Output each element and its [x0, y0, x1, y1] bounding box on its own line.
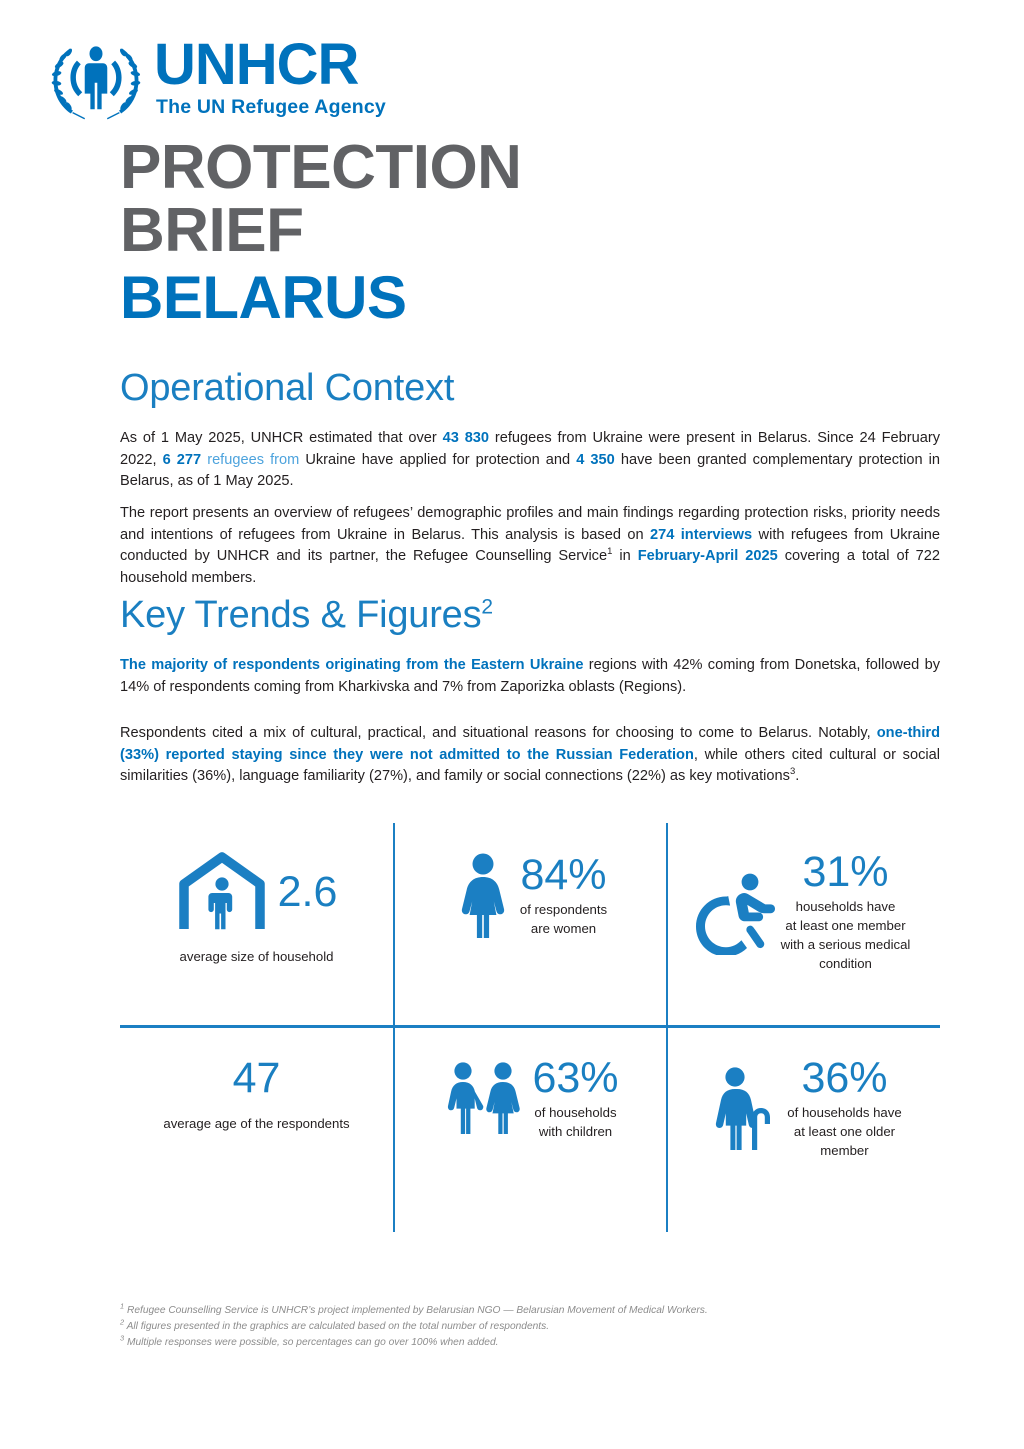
stat-value-average-age: 47	[233, 1057, 281, 1100]
stat-card-women-share: 84% of respondents are women	[393, 851, 666, 941]
page-title: PROTECTION BRIEF	[120, 136, 940, 262]
text-fragment: .	[795, 768, 799, 784]
text-fragment: Ukraine have applied for protection and	[299, 452, 576, 468]
section-heading-key-trends: Key Trends & Figures2	[120, 594, 493, 637]
logo-tagline: The UN Refugee Agency	[156, 96, 386, 119]
stat-label-households-older: of households have at least one older me…	[787, 1103, 901, 1160]
stat-card-households-children: 63% of households with children	[393, 1057, 666, 1141]
text-fragment: in	[612, 548, 637, 564]
section-heading-operational-context: Operational Context	[120, 367, 454, 410]
figure-interviews: 274 interviews	[650, 527, 752, 543]
stat-card-medical-condition: 31% households have at least one member …	[666, 851, 939, 973]
paragraph-origin-regions: The majority of respondents originating …	[120, 655, 940, 698]
stat-label-household-size: average size of household	[120, 947, 393, 966]
stat-label-line: at least one older	[794, 1124, 895, 1139]
footnote-text: All figures presented in the graphics ar…	[127, 1321, 549, 1332]
figure-applied-protection-suffix: refugees from	[201, 452, 299, 468]
stat-label-households-children: of households with children	[534, 1103, 616, 1141]
stat-card-households-older: 36% of households have at least one olde…	[666, 1057, 939, 1160]
stat-label-line: condition	[819, 956, 872, 971]
highlight-majority-origin: The majority of respondents originating …	[120, 657, 583, 673]
paragraph-reasons-for-belarus: Respondents cited a mix of cultural, pra…	[120, 723, 940, 788]
stat-label-line: member	[820, 1143, 868, 1158]
stat-label-line: at least one member	[785, 918, 905, 933]
footnote-number: 2	[120, 1317, 124, 1326]
house-with-person-icon	[176, 851, 272, 933]
document-title-block: PROTECTION BRIEF BELARUS	[120, 136, 940, 331]
unhcr-emblem-icon	[44, 34, 148, 122]
grid-horizontal-divider	[120, 1025, 940, 1028]
stat-card-household-size: 2.6 average size of household	[120, 851, 393, 966]
section-heading-key-trends-label: Key Trends & Figures	[120, 594, 481, 636]
paragraph-report-overview: The report presents an overview of refug…	[120, 503, 940, 589]
stat-label-medical-condition: households have at least one member with…	[781, 897, 911, 973]
title-line-1: PROTECTION	[120, 133, 521, 202]
paragraph-operational-context: As of 1 May 2025, UNHCR estimated that o…	[120, 428, 940, 493]
footnotes-block: 1 Refugee Counselling Service is UNHCR’s…	[120, 1303, 910, 1350]
protection-brief-page: UNHCR The UN Refugee Agency PROTECTION B…	[0, 0, 1024, 1449]
title-line-2: BRIEF	[120, 196, 304, 265]
logo-wordmark: UNHCR The UN Refugee Agency	[154, 37, 386, 118]
text-fragment: Respondents cited a mix of cultural, pra…	[120, 725, 877, 741]
logo-name: UNHCR	[154, 37, 386, 92]
figure-refugees-present: 43 830	[443, 430, 489, 446]
text-fragment: As of 1 May 2025, UNHCR estimated that o…	[120, 430, 443, 446]
stat-value-households-children: 63%	[532, 1057, 618, 1100]
stat-value-households-older: 36%	[801, 1057, 887, 1100]
key-figures-grid: 2.6 average size of household 84% of res…	[120, 823, 940, 1235]
stat-label-line: households have	[796, 899, 896, 914]
footnote-text: Multiple responses were possible, so per…	[127, 1337, 499, 1348]
stat-label-women-share: of respondents are women	[520, 900, 607, 938]
footnote-item: 2 All figures presented in the graphics …	[120, 1319, 910, 1335]
stat-label-line: are women	[531, 921, 596, 936]
footnote-item: 3 Multiple responses were possible, so p…	[120, 1335, 910, 1351]
country-title: BELARUS	[120, 266, 940, 331]
older-person-with-cane-icon	[703, 1064, 781, 1154]
stat-label-line: of households	[534, 1105, 616, 1120]
footnote-marker-2: 2	[481, 595, 492, 618]
stat-value-women-share: 84%	[520, 854, 606, 897]
unhcr-logo: UNHCR The UN Refugee Agency	[44, 34, 386, 122]
footnote-number: 1	[120, 1302, 124, 1311]
stat-label-line: with a serious medical	[781, 937, 911, 952]
footnote-text: Refugee Counselling Service is UNHCR’s p…	[127, 1305, 708, 1316]
woman-icon	[452, 851, 514, 941]
stat-label-line: of respondents	[520, 902, 607, 917]
wheelchair-accessibility-icon	[695, 869, 775, 955]
figure-interview-period: February-April 2025	[638, 548, 778, 564]
stat-label-average-age: average age of the respondents	[120, 1114, 393, 1133]
footnote-item: 1 Refugee Counselling Service is UNHCR’s…	[120, 1303, 910, 1319]
stat-card-average-age: 47 average age of the respondents	[120, 1057, 393, 1133]
figure-granted-protection: 4 350	[576, 452, 615, 468]
stat-label-line: of households have	[787, 1105, 901, 1120]
stat-label-line: with children	[539, 1124, 612, 1139]
footnote-number: 3	[120, 1333, 124, 1342]
stat-value-household-size: 2.6	[278, 871, 338, 914]
figure-applied-protection: 6 277	[163, 452, 202, 468]
stat-value-medical-condition: 31%	[802, 851, 888, 894]
two-children-icon	[440, 1059, 526, 1139]
